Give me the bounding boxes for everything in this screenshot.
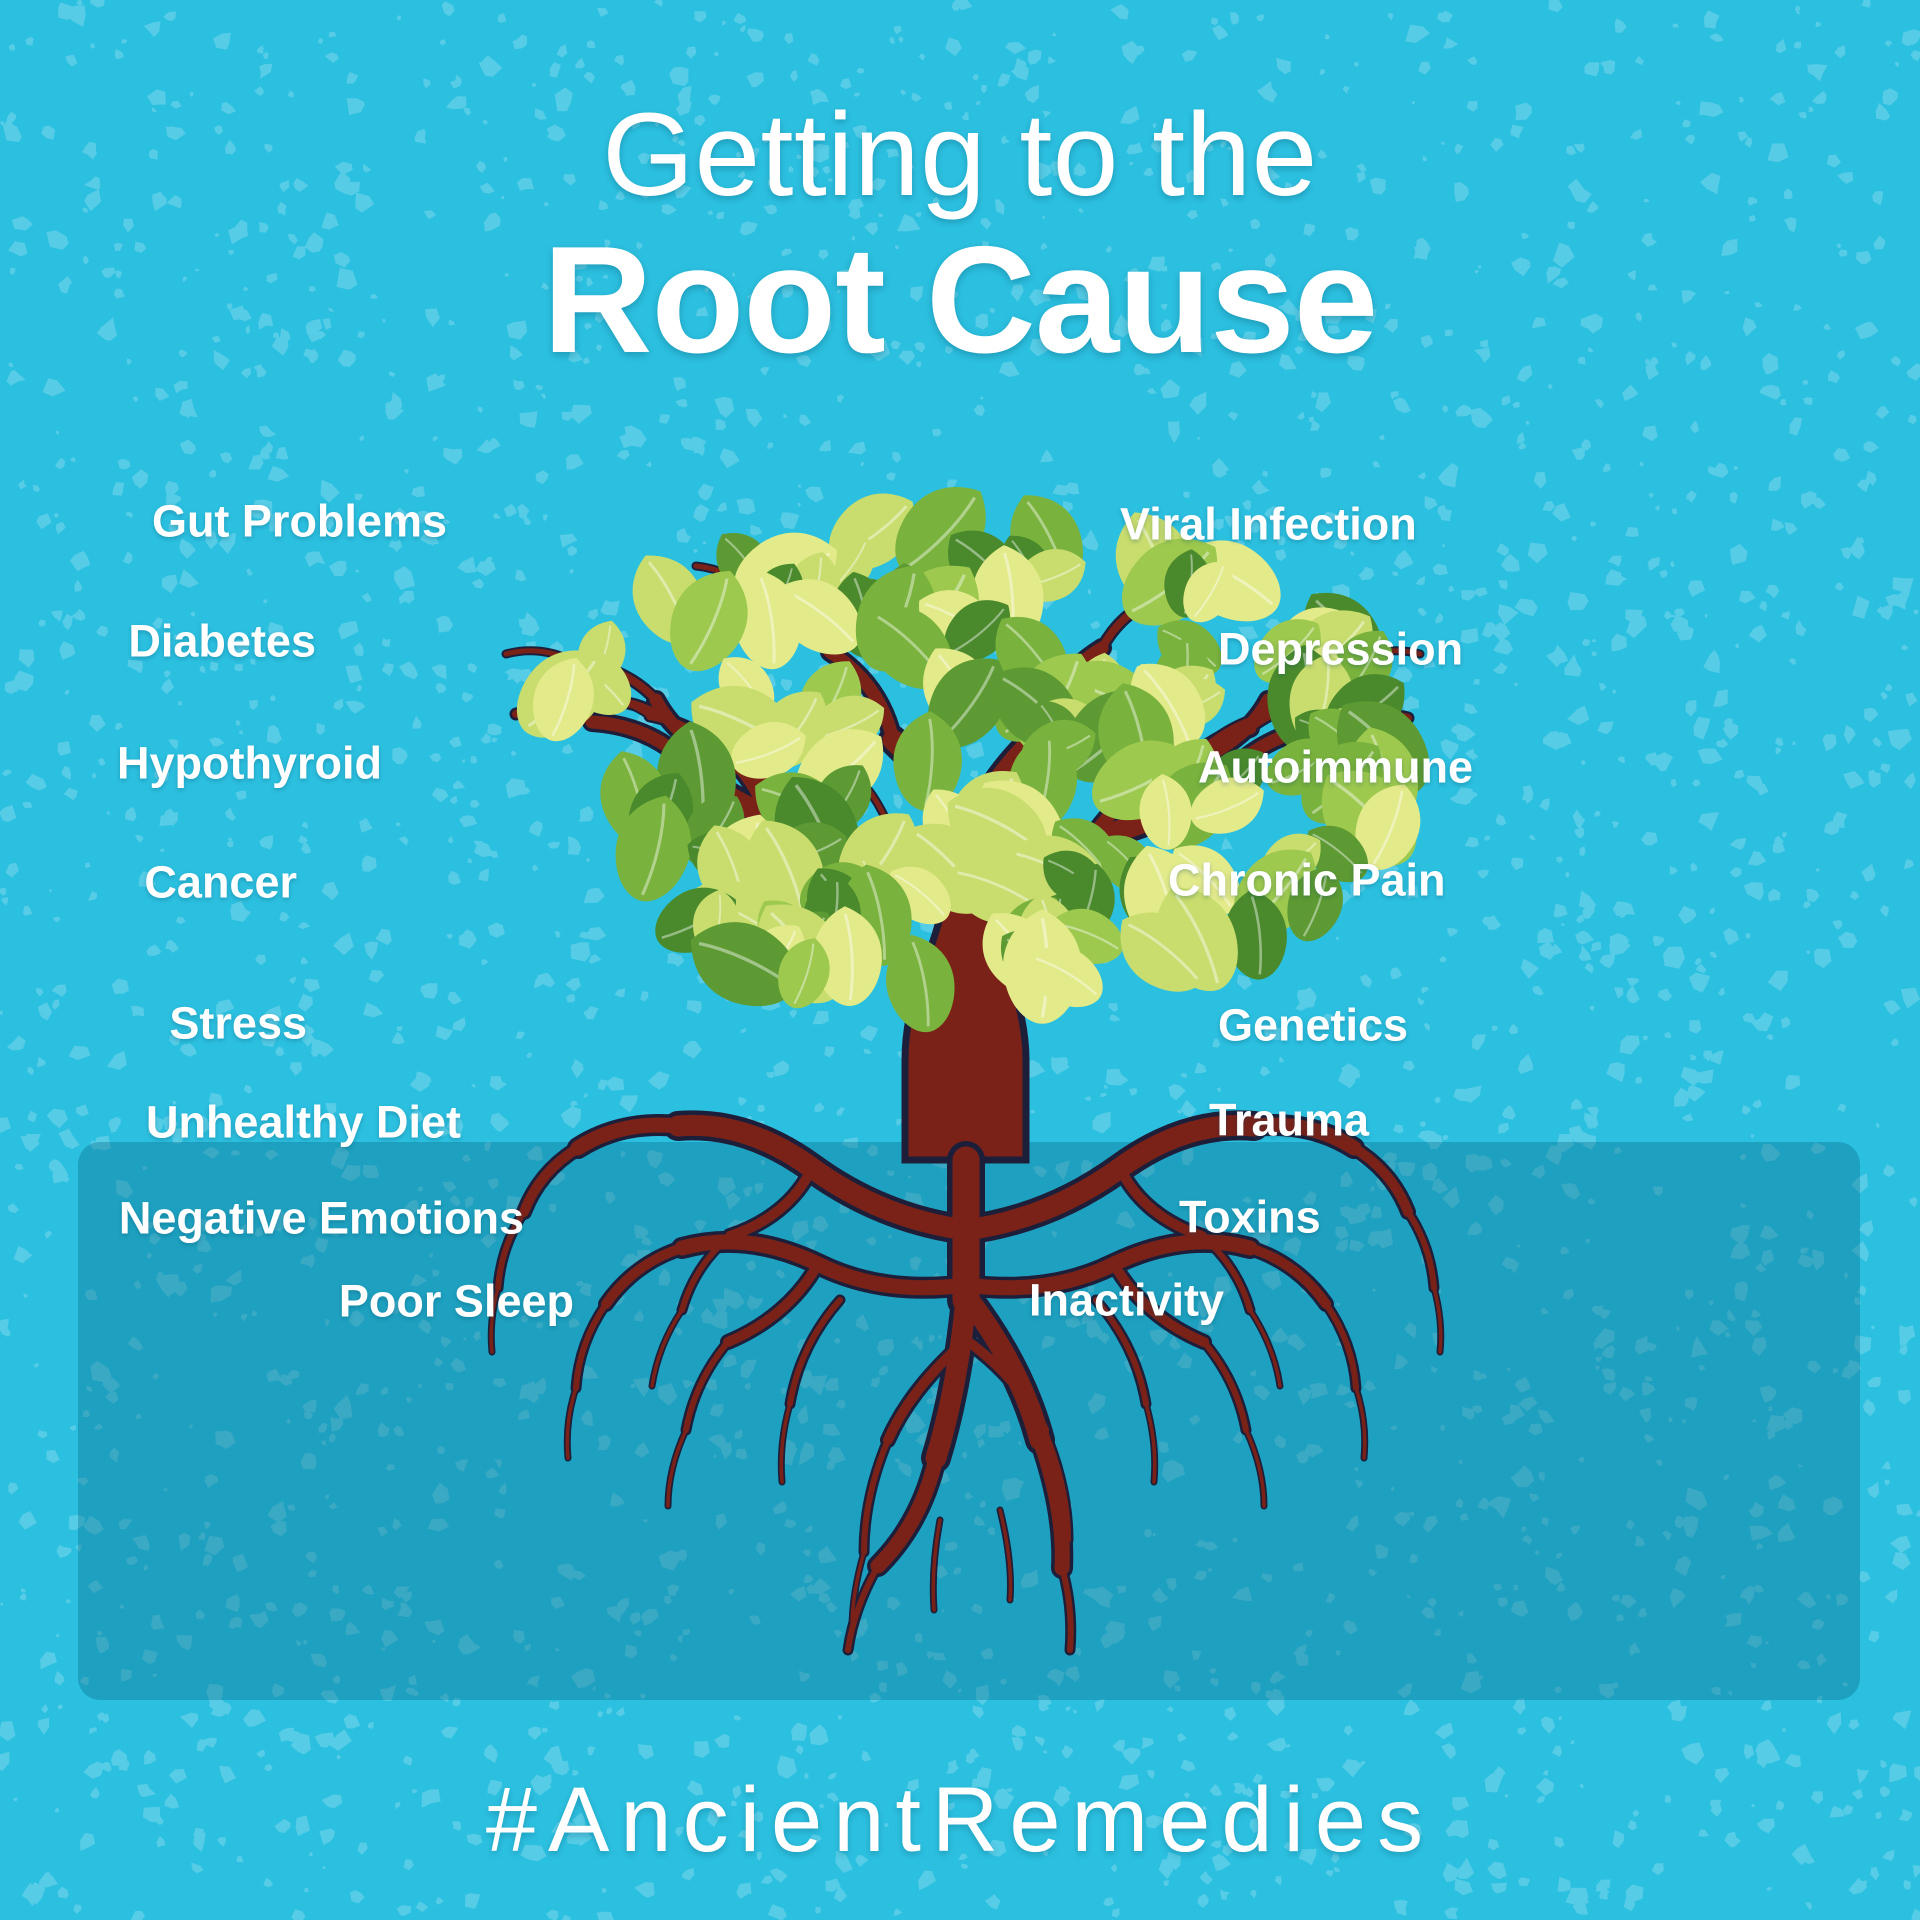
branches-label-left-1: Diabetes — [128, 619, 316, 664]
title-line-1: Getting to the — [0, 96, 1920, 214]
roots-label-right-3: Inactivity — [1029, 1278, 1224, 1323]
roots-label-left-2: Negative Emotions — [119, 1196, 524, 1241]
branches-label-left-2: Hypothyroid — [117, 741, 382, 786]
roots-label-right-0: Genetics — [1218, 1003, 1408, 1048]
hashtag: #AncientRemedies — [0, 1768, 1920, 1873]
title-line-2: Root Cause — [0, 220, 1920, 381]
infographic-poster: Getting to the Root Cause Gut ProblemsDi… — [0, 0, 1920, 1920]
branches-label-right-2: Autoimmune — [1198, 745, 1473, 790]
roots-label-left-0: Stress — [169, 1001, 307, 1046]
branches-label-right-3: Chronic Pain — [1168, 858, 1446, 903]
roots-label-right-1: Trauma — [1209, 1098, 1369, 1143]
branches-label-left-3: Cancer — [144, 860, 297, 905]
roots-label-left-1: Unhealthy Diet — [146, 1100, 461, 1145]
roots-label-left-3: Poor Sleep — [339, 1279, 574, 1324]
roots-label-right-2: Toxins — [1179, 1195, 1321, 1240]
branches-label-left-0: Gut Problems — [152, 499, 447, 544]
branches-label-right-1: Depression — [1218, 627, 1463, 672]
branches-label-right-0: Viral Infection — [1120, 502, 1417, 547]
page-title: Getting to the Root Cause — [0, 96, 1920, 381]
